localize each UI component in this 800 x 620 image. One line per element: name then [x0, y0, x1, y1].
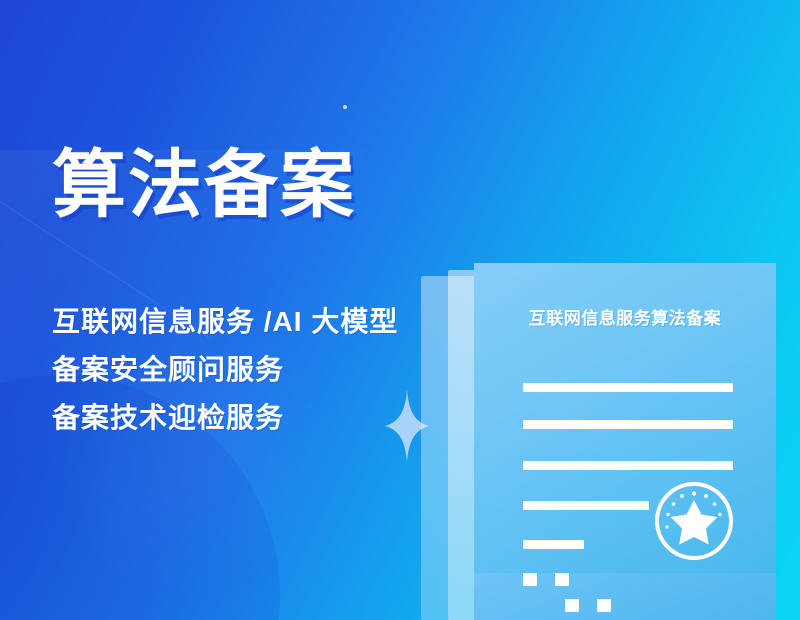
document-text-line	[523, 420, 733, 429]
document-square-mark	[555, 573, 569, 586]
document-text-line	[523, 501, 649, 510]
card-bottom-strip	[474, 573, 776, 620]
promo-banner: 算法备案 互联网信息服务 /AI 大模型 备案安全顾问服务 备案技术迎检服务 互…	[0, 0, 800, 620]
document-square-mark	[523, 573, 537, 586]
document-text-line	[523, 540, 584, 549]
document-card-title: 互联网信息服务算法备案	[474, 304, 776, 329]
document-text-line	[523, 383, 733, 392]
document-text-line	[523, 461, 733, 470]
star-seal-badge-icon	[653, 480, 735, 562]
document-square-mark	[597, 599, 611, 612]
document-square-mark	[565, 599, 579, 612]
document-card-stack: 互联网信息服务算法备案	[0, 0, 800, 620]
